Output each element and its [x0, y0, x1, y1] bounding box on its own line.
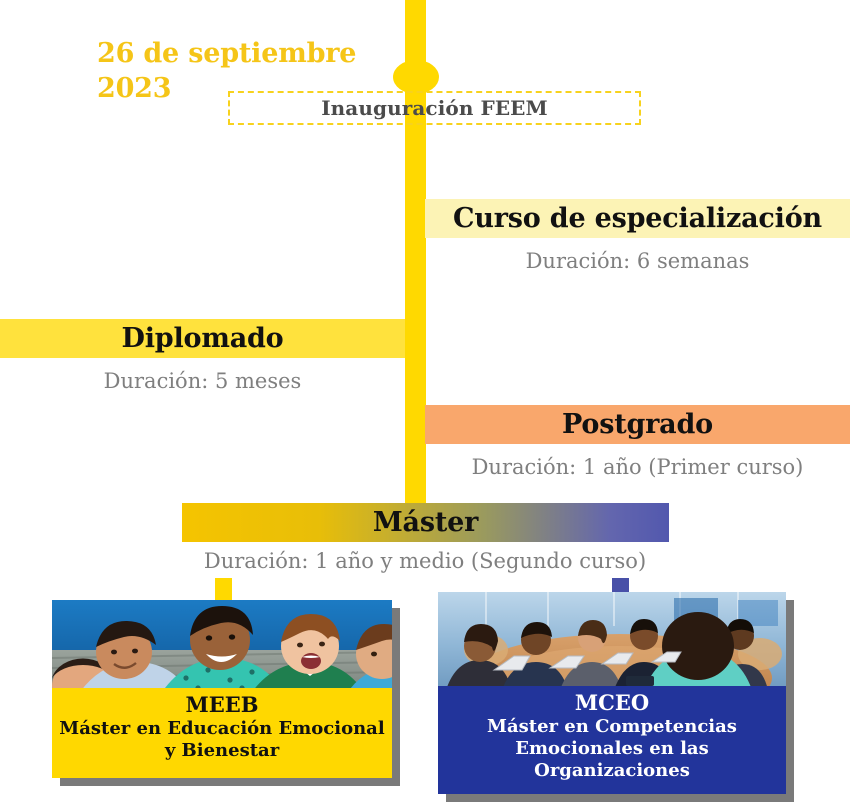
program-name-meeb-line1: Máster en Educación Emocional [58, 718, 386, 740]
stage-title-postgrado: Postgrado [425, 409, 850, 440]
stage-subtitle-curso: Duración: 6 semanas [425, 249, 850, 273]
program-name-mceo-line3: Organizaciones [444, 760, 780, 782]
program-caption-meeb: MEEB Máster en Educación Emocional y Bie… [52, 688, 392, 778]
milestone-label: Inauguración FEEM [321, 96, 548, 120]
stage-bar-postgrado: Postgrado [425, 405, 850, 444]
stage-subtitle-diplomado: Duración: 5 meses [0, 369, 405, 393]
program-name-mceo-line1: Máster en Competencias [444, 716, 780, 738]
stage-bar-curso: Curso de especialización [425, 199, 850, 238]
timeline-infographic: 26 de septiembre 2023 Inauguración FEEM … [0, 0, 850, 803]
stage-subtitle-postgrado: Duración: 1 año (Primer curso) [425, 455, 850, 479]
program-caption-mceo: MCEO Máster en Competencias Emocionales … [438, 686, 786, 794]
program-code-mceo: MCEO [444, 690, 780, 716]
program-card-mceo[interactable]: MCEO Máster en Competencias Emocionales … [438, 592, 786, 794]
program-name-meeb-line2: y Bienestar [58, 740, 386, 762]
timeline-node-icon [393, 60, 439, 94]
stage-bar-master: Máster [182, 503, 669, 542]
stage-title-curso: Curso de especialización [425, 203, 850, 234]
children-smiling-photo [52, 600, 392, 692]
connector-stub-meeb [215, 578, 232, 600]
timeline-date-line1: 26 de septiembre [97, 36, 397, 71]
meeting-table-photo [438, 592, 786, 690]
stage-bar-diplomado: Diplomado [0, 319, 405, 358]
program-card-meeb[interactable]: MEEB Máster en Educación Emocional y Bie… [52, 600, 392, 778]
stage-title-diplomado: Diplomado [0, 323, 405, 354]
program-name-mceo-line2: Emocionales en las [444, 738, 780, 760]
program-code-meeb: MEEB [58, 692, 386, 718]
stage-title-master: Máster [182, 507, 669, 538]
milestone-inauguracion: Inauguración FEEM [228, 91, 641, 125]
stage-subtitle-master: Duración: 1 año y medio (Segundo curso) [120, 549, 730, 573]
